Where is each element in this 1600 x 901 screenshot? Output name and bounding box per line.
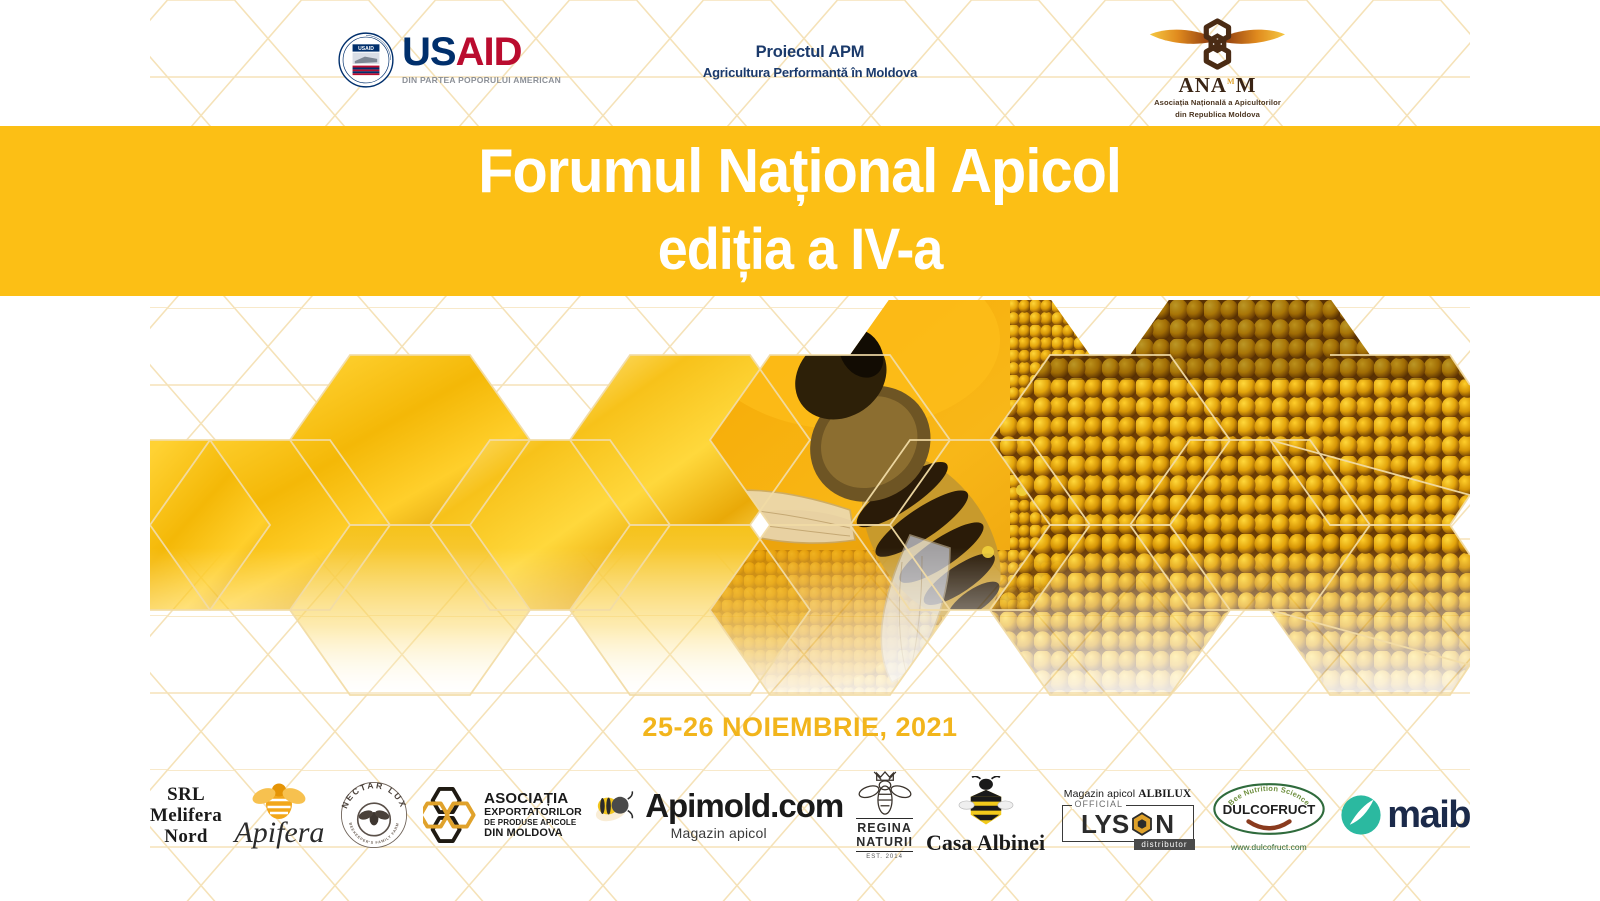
usaid-wordmark: USAID: [402, 32, 561, 72]
hero-honeycomb-cell-hexes: [980, 300, 1470, 700]
usaid-seal-icon: USAID: [338, 32, 394, 88]
usaid-word-us: US: [402, 30, 456, 74]
apm-project-block: Proiectul APM Agricultura Performantă în…: [690, 42, 930, 82]
apimold-bee-icon: [594, 789, 640, 823]
sponsor-casa-albinei[interactable]: Casa Albinei: [926, 769, 1045, 861]
anam-desc-line1: Asociația Națională a Apicultorilor: [1110, 98, 1325, 108]
apimold-subtitle: Magazin apicol: [671, 825, 767, 841]
lyson-word-right: N: [1155, 811, 1174, 837]
lyson-distributor-label: distributor: [1134, 839, 1194, 850]
asociatia-line-3: DE PRODUSE APICOLE: [484, 819, 582, 827]
usaid-tagline: DIN PARTEA POPORULUI AMERICAN: [402, 75, 561, 85]
asociatia-line-2: EXPORTATORILOR: [484, 807, 582, 818]
sponsor-melifera-nord[interactable]: SRL Melifera Nord: [150, 769, 222, 861]
poster-title-line-1: Forumul Național Apicol: [479, 133, 1122, 211]
sponsor-asociatia-exportatorilor[interactable]: ASOCIAȚIA EXPORTATORILOR DE PRODUSE APIC…: [423, 769, 582, 861]
lyson-hexagon-o-icon: [1130, 812, 1154, 836]
sponsor-apimold[interactable]: Apimold.com Magazin apicol: [594, 769, 843, 861]
nectar-lux-badge-icon: NECTAR LUX BEEKEEPER'S FAMILY FARM: [337, 778, 411, 852]
sponsor-nectar-lux[interactable]: NECTAR LUX BEEKEEPER'S FAMILY FARM: [337, 769, 411, 861]
svg-text:USAID: USAID: [358, 46, 374, 52]
anam-wordmark: ANAMM: [1110, 71, 1325, 96]
sponsor-logo-strip: SRL Melifera Nord Apifera: [150, 765, 1470, 865]
usaid-logo: USAID USAID DIN PARTEA POPORULUI AMERICA…: [338, 32, 561, 88]
maib-logo-icon: [1340, 794, 1382, 836]
sponsor-albilux-lyson[interactable]: Magazin apicol ALBILUX OFFICIAL LYS N di…: [1058, 769, 1198, 861]
lyson-badge: OFFICIAL LYS N distributor: [1062, 805, 1194, 842]
apm-subtitle: Agricultura Performantă în Moldova: [690, 63, 930, 82]
lyson-wordmark: LYS N: [1081, 811, 1174, 837]
melifera-line-1: SRL: [150, 784, 222, 805]
sponsor-apifera[interactable]: Apifera: [234, 769, 324, 861]
regina-line-1: REGINA: [856, 821, 913, 835]
anam-name-tail: M: [1236, 73, 1257, 97]
sponsor-maib[interactable]: maib: [1340, 769, 1470, 861]
casa-albinei-bee-icon: [958, 776, 1014, 830]
dulcofruct-url[interactable]: www.dulcofruct.com: [1231, 842, 1307, 852]
header-logo-bar: USAID USAID DIN PARTEA POPORULUI AMERICA…: [0, 0, 1600, 127]
apm-title: Proiectul APM: [690, 42, 930, 63]
lyson-official-label: OFFICIAL: [1072, 799, 1127, 809]
asociatia-hexagon-icon: [423, 787, 477, 843]
anam-name-main: ANA: [1179, 73, 1228, 97]
albilux-brand: ALBILUX: [1138, 788, 1191, 800]
melifera-line-2: Melifera: [150, 805, 222, 826]
melifera-line-3: Nord: [150, 826, 222, 847]
regina-established: EST. 2014: [866, 854, 903, 860]
sponsor-dulcofruct[interactable]: Bee Nutrition Science DULCOFRUCT www.dul…: [1210, 769, 1328, 861]
apifera-wordmark: Apifera: [234, 818, 324, 848]
asociatia-line-1: ASOCIAȚIA: [484, 791, 582, 806]
anam-logo: ANAMM Asociația Națională a Apicultorilo…: [1110, 18, 1325, 120]
asociatia-line-4: DIN MOLDOVA: [484, 828, 582, 839]
dulcofruct-wordmark: DULCOFRUCT: [1223, 801, 1316, 816]
event-poster: USAID USAID DIN PARTEA POPORULUI AMERICA…: [0, 0, 1600, 901]
apimold-wordmark: Apimold.com: [645, 789, 843, 823]
hero-image-band: [150, 300, 1470, 700]
event-date: 25-26 NOIEMBRIE, 2021: [0, 712, 1600, 743]
hero-left-golden-hexes: [150, 300, 810, 695]
poster-title-line-2: ediția a IV-a: [658, 211, 943, 289]
dulcofruct-oval-icon: Bee Nutrition Science DULCOFRUCT: [1210, 779, 1328, 839]
anam-bee-hexagon-icon: [1132, 18, 1303, 70]
lyson-word-left: LYS: [1081, 811, 1129, 837]
regina-naturii-crowned-bee-icon: [856, 770, 914, 816]
maib-wordmark: maib: [1387, 796, 1470, 834]
anam-name-superscript: M: [1227, 77, 1236, 86]
title-banner: Forumul Național Apicol ediția a IV-a: [0, 126, 1600, 296]
anam-desc-line2: din Republica Moldova: [1110, 110, 1325, 120]
sponsor-regina-naturii[interactable]: REGINA NATURII EST. 2014: [856, 769, 914, 861]
regina-line-2: NATURII: [856, 835, 913, 849]
casa-albinei-wordmark: Casa Albinei: [926, 831, 1045, 854]
usaid-word-aid: AID: [456, 30, 522, 74]
